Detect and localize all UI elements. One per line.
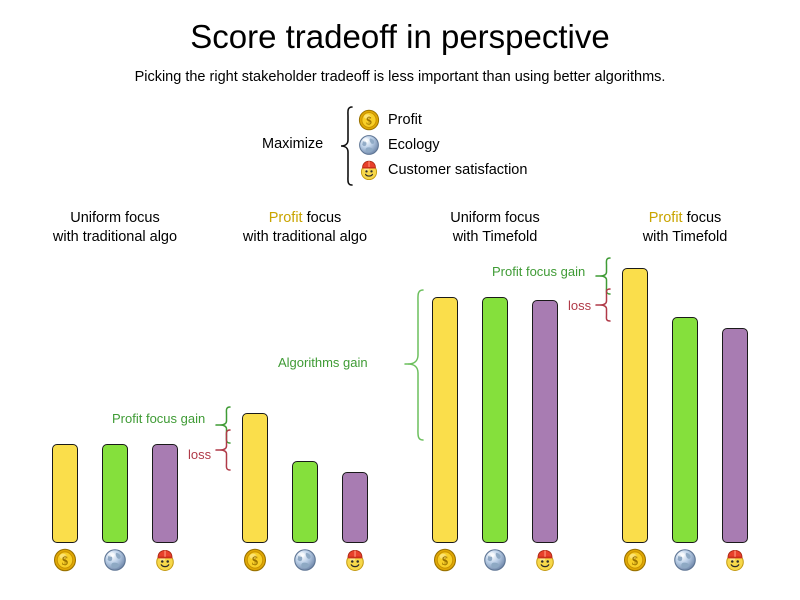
legend-item-customer-satisfaction: Customer satisfaction xyxy=(358,158,527,182)
bar xyxy=(242,413,268,543)
globe-icon xyxy=(483,548,507,577)
group-header-profit-timefold: Profit focus with Timefold xyxy=(592,209,778,247)
bar xyxy=(672,317,698,543)
globe-icon xyxy=(358,134,380,156)
annotation-loss-timefold-brace-icon xyxy=(595,288,613,322)
legend-item-label: Profit xyxy=(388,112,422,128)
bar xyxy=(482,297,508,543)
group-header-line1: Uniform focus xyxy=(22,209,208,228)
annotation-algorithms-gain-label: Algorithms gain xyxy=(278,355,368,370)
bar xyxy=(52,444,78,543)
group-header-highlight: Profit xyxy=(269,210,303,226)
annotation-loss-timefold-label: loss xyxy=(568,298,591,313)
smiley-hardhat-icon xyxy=(358,159,380,181)
smiley-hardhat-icon xyxy=(533,548,557,577)
smiley-hardhat-icon xyxy=(723,548,747,577)
globe-icon xyxy=(103,548,127,577)
bar xyxy=(722,328,748,543)
group-header-highlight: Profit xyxy=(649,210,683,226)
globe-icon xyxy=(293,548,317,577)
legend-brace-icon xyxy=(339,106,355,186)
group-header-profit-traditional: Profit focus with traditional algo xyxy=(212,209,398,247)
svg-text:$: $ xyxy=(366,115,372,128)
annotation-loss-traditional-brace-icon xyxy=(215,429,233,471)
annotation-profit-focus-gain-traditional-label: Profit focus gain xyxy=(112,411,205,426)
smiley-hardhat-icon xyxy=(343,548,367,577)
bar xyxy=(622,268,648,543)
legend-item-label: Ecology xyxy=(388,137,440,153)
coin-dollar-icon: $ xyxy=(433,548,457,577)
smiley-hardhat-icon xyxy=(153,548,177,577)
chart-canvas: Score tradeoff in perspective Picking th… xyxy=(0,0,800,600)
bar xyxy=(292,461,318,543)
group-header-line1: Profit focus xyxy=(592,209,778,228)
annotation-loss-traditional-label: loss xyxy=(188,447,211,462)
group-header-line1: Uniform focus xyxy=(402,209,588,228)
bar xyxy=(342,472,368,543)
group-header-line2: with Timefold xyxy=(402,228,588,247)
svg-text:$: $ xyxy=(252,554,258,568)
group-header-line2: with Timefold xyxy=(592,228,778,247)
svg-text:$: $ xyxy=(442,554,448,568)
page-title: Score tradeoff in perspective xyxy=(0,18,800,56)
bar xyxy=(102,444,128,543)
coin-dollar-icon: $ xyxy=(358,109,380,131)
legend-label: Maximize xyxy=(262,136,323,152)
bar xyxy=(432,297,458,543)
chart-subtitle: Picking the right stakeholder tradeoff i… xyxy=(0,68,800,86)
legend: Maximize $ Profit xyxy=(262,106,562,186)
annotation-profit-focus-gain-timefold-label: Profit focus gain xyxy=(492,264,585,279)
svg-text:$: $ xyxy=(632,554,638,568)
coin-dollar-icon: $ xyxy=(243,548,267,577)
group-header-uniform-timefold: Uniform focus with Timefold xyxy=(402,209,588,247)
svg-text:$: $ xyxy=(62,554,68,568)
bar xyxy=(152,444,178,543)
globe-icon xyxy=(673,548,697,577)
coin-dollar-icon: $ xyxy=(623,548,647,577)
legend-item-ecology: Ecology xyxy=(358,133,440,157)
annotation-algorithms-gain-brace-icon xyxy=(404,289,426,441)
legend-item-profit: $ Profit xyxy=(358,108,422,132)
group-header-line2: with traditional algo xyxy=(22,228,208,247)
bar xyxy=(532,300,558,543)
coin-dollar-icon: $ xyxy=(53,548,77,577)
legend-item-label: Customer satisfaction xyxy=(388,162,527,178)
group-header-line2: with traditional algo xyxy=(212,228,398,247)
group-header-uniform-traditional: Uniform focus with traditional algo xyxy=(22,209,208,247)
group-header-line1: Profit focus xyxy=(212,209,398,228)
